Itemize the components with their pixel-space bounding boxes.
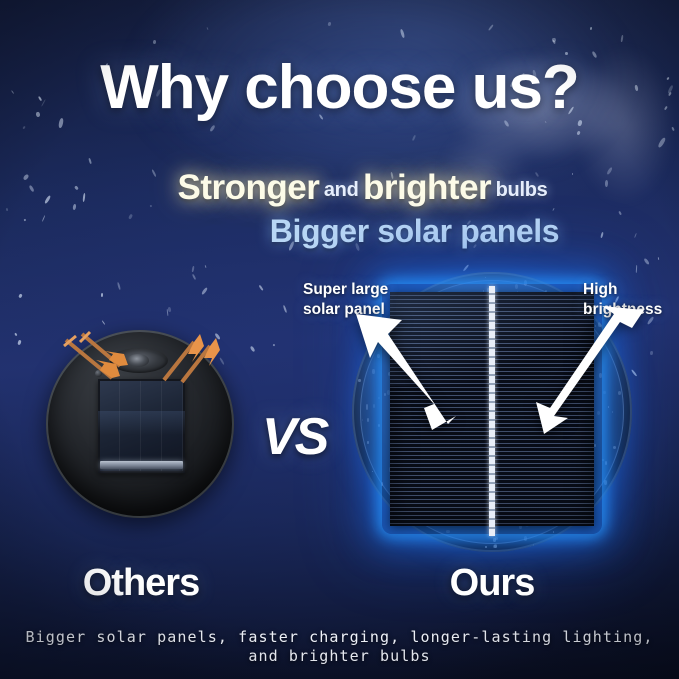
subtitle-line-1: Stronger and brighter bulbs (0, 168, 679, 208)
ours-label: Ours (392, 562, 592, 605)
subtitle-bulbs: bulbs (496, 179, 548, 201)
others-product-image (46, 330, 234, 518)
others-indicator-dot (95, 370, 102, 377)
callout-left-line-1: Super large (303, 280, 388, 300)
callout-left-line-2: solar panel (303, 300, 388, 320)
versus-label: VS (262, 407, 327, 467)
subtitle-brighter: brighter (363, 168, 491, 207)
ours-solar-panel (390, 292, 594, 526)
product-comparison-poster: Why choose us? Stronger and brighter bul… (0, 0, 679, 679)
ours-panel-busbar (489, 286, 495, 536)
callout-high-brightness: High brightness (583, 280, 662, 321)
callout-right-line-1: High (583, 280, 662, 300)
others-label: Others (0, 562, 282, 605)
subtitle-and: and (324, 179, 359, 201)
others-sensor-dome (110, 348, 168, 373)
caption-line-1: Bigger solar panels, faster charging, lo… (25, 628, 653, 646)
bottom-caption: Bigger solar panels, faster charging, lo… (0, 628, 679, 666)
callout-right-line-2: brightness (583, 300, 662, 320)
page-title: Why choose us? (0, 52, 679, 123)
subtitle-stronger: Stronger (178, 168, 320, 207)
caption-line-2: and brighter bulbs (0, 647, 679, 666)
others-solar-panel (98, 379, 185, 473)
callout-super-large-solar-panel: Super large solar panel (303, 280, 388, 321)
subtitle-line-2: Bigger solar panels (0, 213, 679, 250)
